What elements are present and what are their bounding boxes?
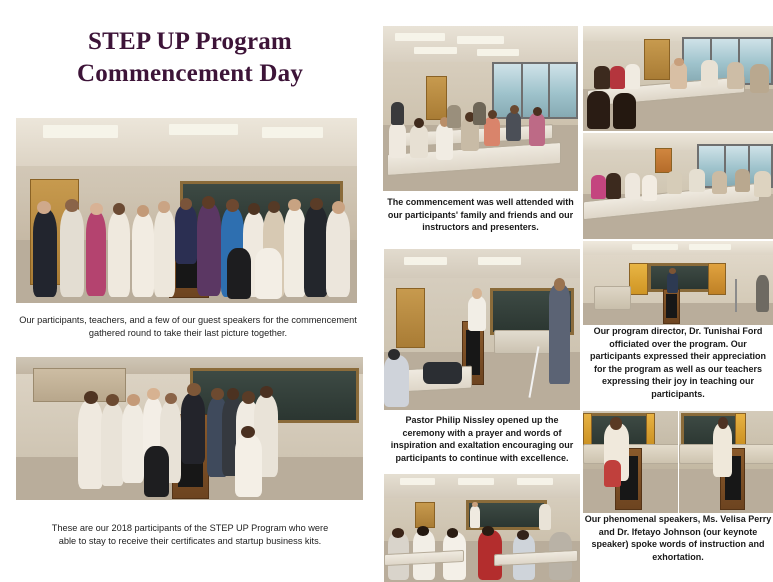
podium (663, 289, 680, 324)
person (86, 211, 106, 296)
director-person (667, 272, 678, 293)
person (606, 173, 621, 198)
window-mullion (548, 64, 550, 117)
person-head (242, 391, 255, 403)
photo-scene (16, 357, 363, 500)
person-head (202, 196, 215, 209)
person (712, 171, 727, 194)
photo-scene (583, 133, 773, 239)
seated-person (384, 355, 409, 407)
person-head (65, 199, 79, 212)
person-head (90, 203, 102, 215)
photo-scene (583, 241, 773, 327)
person (122, 403, 145, 483)
person (625, 173, 640, 198)
person-head (180, 198, 192, 210)
caption-bottom-left: These are our 2018 participants of the S… (44, 522, 336, 548)
ceiling-light (43, 125, 118, 138)
door (735, 413, 745, 446)
standing-person (549, 284, 571, 384)
person (484, 117, 500, 147)
photo-scene (384, 249, 580, 410)
ceiling-light (689, 244, 731, 249)
person-head (158, 201, 170, 212)
person (625, 64, 640, 89)
chalkboard (648, 263, 711, 291)
person-head (137, 205, 149, 217)
ceiling-light (395, 33, 446, 41)
caption-pastor: Pastor Philip Nissley opened up the cere… (384, 414, 580, 464)
photo-scene (383, 26, 578, 191)
ceiling-light (632, 244, 678, 249)
person-head (388, 349, 400, 360)
photo-scene (583, 411, 678, 514)
group-photo-bottom-left (16, 357, 363, 500)
door (646, 413, 656, 446)
caption-top-left: Our participants, teachers, and a few of… (14, 314, 362, 340)
person-head (718, 417, 728, 428)
person-head (310, 198, 323, 211)
person-head (417, 526, 429, 536)
person-kneeling (227, 248, 251, 300)
ceiling-light (414, 47, 457, 54)
person (591, 175, 606, 198)
speaker-person (468, 296, 486, 331)
person (389, 122, 407, 158)
person-head (187, 383, 201, 396)
person (750, 64, 769, 93)
door (629, 263, 648, 294)
person (642, 175, 657, 200)
person-head (482, 526, 494, 536)
caption-director: Our program director, Dr. Tunishai Ford … (583, 325, 773, 400)
ceiling-light (477, 49, 520, 56)
photo-scene (583, 26, 773, 131)
person-head (674, 58, 684, 66)
audience-photo-right-second (583, 133, 773, 239)
person (473, 102, 487, 125)
person (410, 125, 428, 158)
person (197, 203, 221, 296)
ceiling-light (457, 36, 504, 44)
group-photo-top-left (16, 118, 357, 303)
classroom-photo-bottom-middle (384, 474, 580, 582)
person (701, 60, 718, 87)
person (506, 112, 522, 142)
person (447, 105, 461, 128)
standing-person (756, 275, 769, 311)
speaker-ifetayo-johnson (713, 423, 732, 477)
person (60, 207, 84, 298)
person (326, 209, 350, 298)
bag (423, 362, 462, 385)
ceiling-light (262, 127, 323, 138)
ceiling-light (458, 478, 493, 484)
ceiling-light (478, 257, 521, 265)
door (583, 413, 592, 446)
speaker-photo-bottom-right-left (583, 411, 678, 514)
person (689, 169, 704, 192)
door (708, 263, 725, 294)
person (610, 66, 625, 89)
audience-photo-top-right (583, 26, 773, 131)
person-head (472, 288, 482, 299)
person (594, 66, 609, 89)
photo-scene (679, 411, 773, 514)
caption-bottom-right: Our phenomenal speakers, Ms. Velisa Perr… (583, 513, 773, 563)
ceiling-light (404, 257, 447, 265)
person-head (447, 528, 459, 538)
person (587, 91, 610, 129)
person (436, 123, 454, 159)
person-head (248, 203, 260, 215)
door (396, 288, 425, 348)
person (727, 62, 744, 89)
page-title-line-2: Commencement Day (14, 58, 366, 90)
door (644, 39, 671, 81)
person-head (147, 388, 159, 400)
person-head (517, 530, 529, 540)
speaker-photo-bottom-right-right (679, 411, 773, 514)
person (181, 393, 205, 465)
door (415, 502, 435, 528)
person-kneeling (255, 248, 282, 300)
page-title-line-1: STEP UP Program (14, 26, 366, 58)
counter (594, 286, 630, 310)
flyer-page: STEP UP Program Commencement Day (0, 0, 773, 582)
person (78, 400, 102, 489)
person (101, 403, 124, 486)
presenter (470, 506, 480, 528)
ceiling-light (517, 478, 552, 484)
director-photo-right-third (583, 241, 773, 327)
person (154, 209, 174, 298)
page-title: STEP UP Program Commencement Day (14, 26, 366, 90)
door (426, 76, 448, 121)
photo-scene (384, 474, 580, 582)
person (33, 209, 57, 298)
photo-scene (16, 118, 357, 303)
person (304, 205, 328, 298)
person (175, 205, 197, 264)
person (667, 171, 682, 194)
person (391, 102, 405, 125)
caption-top-middle: The commencement was well attended with … (384, 196, 577, 234)
ceiling-light (169, 124, 237, 135)
ceiling (383, 26, 578, 62)
ceiling (583, 241, 773, 255)
person-head (332, 201, 345, 214)
person (754, 171, 771, 196)
pastor-photo-middle (384, 249, 580, 410)
person-head (211, 388, 223, 400)
window-mullion (521, 64, 523, 117)
person-head (669, 268, 675, 274)
person (132, 212, 154, 297)
person (613, 93, 636, 129)
person-head (392, 528, 404, 538)
speaker-skirt (604, 460, 621, 487)
audience-photo-top-middle (383, 26, 578, 191)
person (735, 169, 750, 192)
tripod (735, 279, 737, 312)
person (529, 113, 545, 146)
person-kneeling (144, 446, 168, 497)
person (108, 211, 130, 298)
person-head (84, 391, 98, 404)
door (655, 148, 672, 173)
person-head (554, 278, 566, 291)
person-kneeling (235, 434, 263, 497)
person-head (610, 417, 622, 429)
person (539, 504, 551, 530)
person (284, 207, 306, 298)
ceiling-light (400, 478, 435, 484)
podium-front-panel (666, 294, 677, 318)
